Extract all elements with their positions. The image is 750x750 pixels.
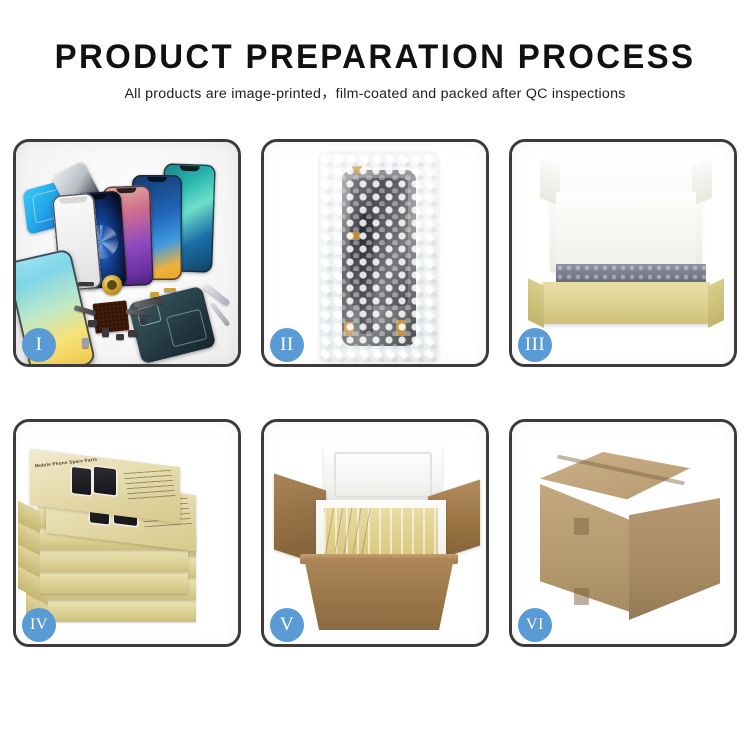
logic-board-icon [93,300,130,333]
screwdriver-icon [209,302,230,327]
bubble-wrap-bag-icon [320,154,438,362]
process-step-1: I [13,139,241,367]
step-badge-2: II [270,328,304,362]
process-step-grid: I II [13,139,737,684]
process-step-4: Mobile Phone Spare Parts Mobile Phone Sp… [13,419,241,647]
box-label: Mobile Phone Spare Parts [34,452,144,469]
carton-tape-tab [574,518,589,535]
page-title: PRODUCT PREPARATION PROCESS [11,38,739,76]
header: PRODUCT PREPARATION PROCESS All products… [0,0,750,103]
foam-sheet-icon [556,192,696,264]
step-badge-4: IV [22,608,56,642]
foam-lid-icon [324,444,442,506]
step-badge-3: III [518,328,552,362]
process-step-5: V [261,419,489,647]
step-badge-1: I [22,328,56,362]
product-preparation-infographic: PRODUCT PREPARATION PROCESS All products… [0,0,750,750]
process-step-2: II [261,139,489,367]
process-step-3: III [509,139,737,367]
carton-side-face [629,498,720,620]
inner-boxes-icon [324,508,438,554]
carton-tape-tab [574,588,589,605]
step-badge-5: V [270,608,304,642]
step-badge-6: VI [518,608,552,642]
phone-housing-icon [128,286,217,364]
inner-box-tray-icon [542,282,710,324]
page-subtitle: All products are image-printed，film-coat… [0,85,750,103]
coil-part-icon [102,275,122,295]
tweezers-icon [203,283,230,306]
carton-body-icon [304,558,454,630]
process-step-6: VI [509,419,737,647]
